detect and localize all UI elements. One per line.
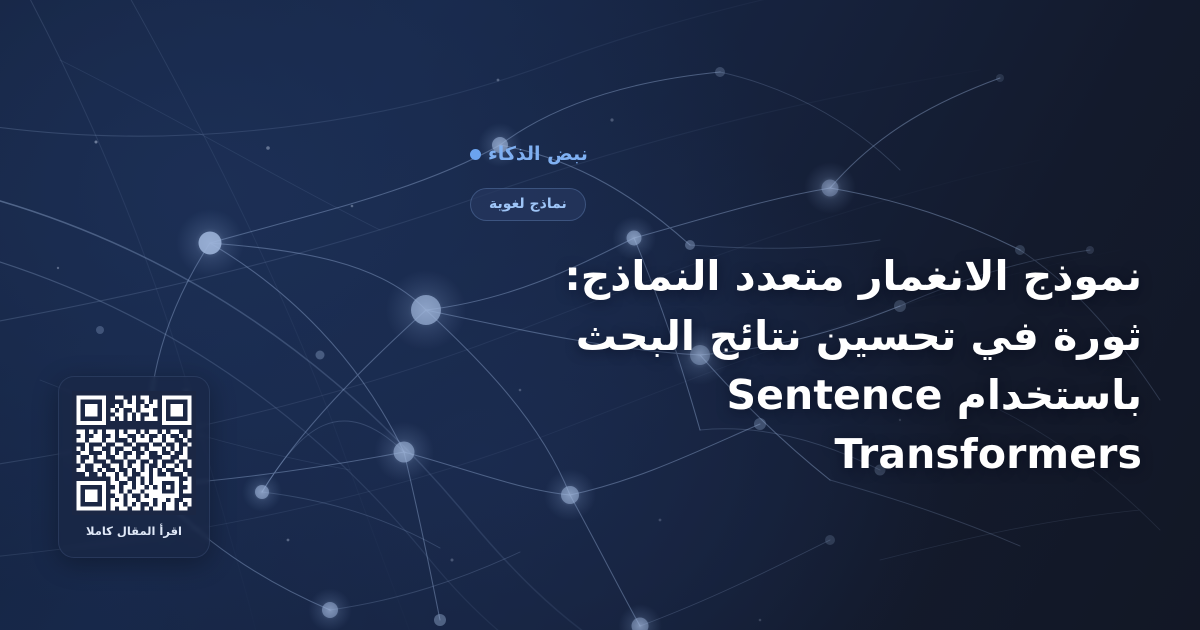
qr-caption: اقرأ المقال كاملا bbox=[86, 526, 182, 538]
category-badge[interactable]: نماذج لغوية bbox=[470, 188, 586, 221]
social-card-canvas: اقرأ المقال كاملا نبض الذكاء نماذج لغوية… bbox=[0, 0, 1200, 630]
brand-name: نبض الذكاء bbox=[488, 145, 588, 164]
brand: نبض الذكاء bbox=[470, 145, 588, 164]
page-title: نموذج الانغمار متعدد النماذج: ثورة في تح… bbox=[470, 247, 1142, 485]
brand-dot-icon bbox=[470, 149, 481, 160]
qr-code-icon bbox=[72, 391, 196, 515]
content-column: نبض الذكاء نماذج لغوية نموذج الانغمار مت… bbox=[470, 0, 1150, 630]
qr-card[interactable]: اقرأ المقال كاملا bbox=[58, 376, 210, 558]
